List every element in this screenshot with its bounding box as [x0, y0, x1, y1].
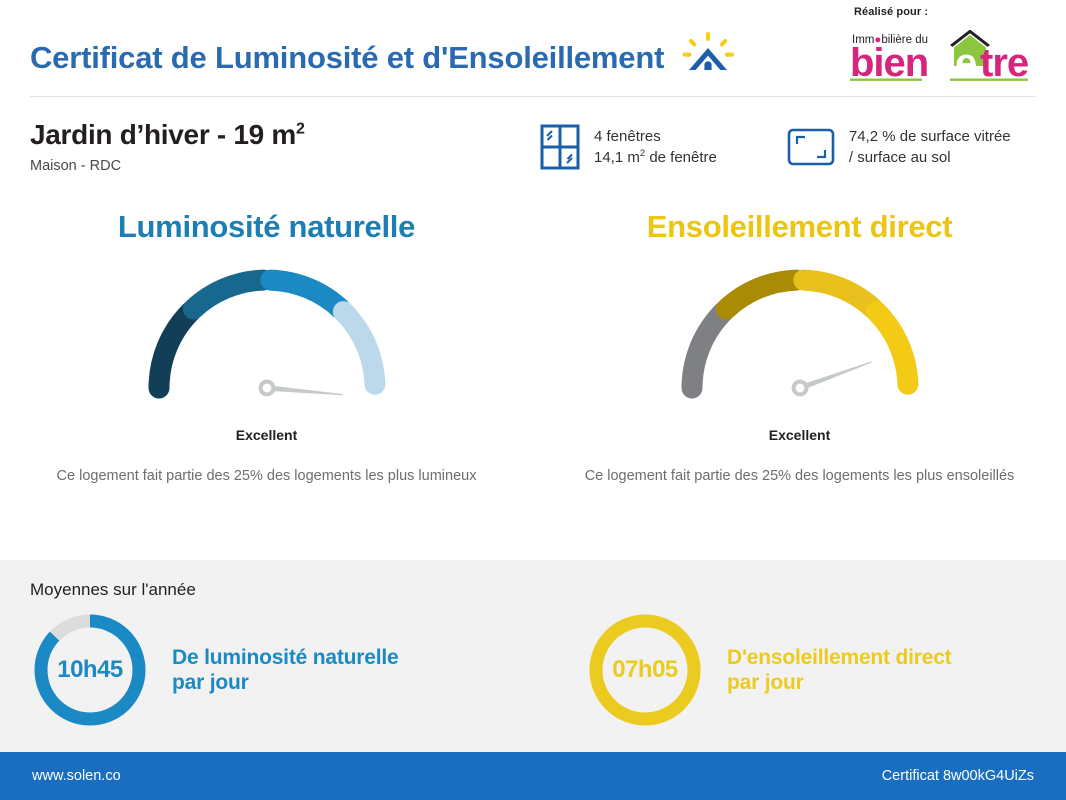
page-title: Certificat de Luminosité et d'Ensoleille… — [30, 42, 664, 73]
stat-windows-line2: 14,1 m2 de fenêtre — [594, 147, 717, 168]
averages-heading: Moyennes sur l'année — [30, 580, 1036, 600]
brand-logo-bien: bien — [850, 41, 928, 82]
stat-windows-text: 4 fenêtres 14,1 m2 de fenêtre — [594, 126, 717, 169]
average-ensoleillement-value: 07h05 — [585, 610, 705, 730]
average-ensoleillement: 07h05 D'ensoleillement direct par jour — [533, 610, 1036, 730]
stat-windows-area-post: de fenêtre — [645, 149, 717, 166]
average-luminosite-label: De luminosité naturelle par jour — [172, 645, 398, 695]
average-ensoleillement-label-line2: par jour — [727, 670, 951, 695]
brand-label: Réalisé pour : — [854, 6, 1036, 18]
averages-row: 10h45 De luminosité naturelle par jour 0… — [30, 610, 1036, 730]
header-title-group: Certificat de Luminosité et d'Ensoleille… — [30, 30, 734, 84]
footer-certificate-id: Certificat 8w00kG4UiZs — [882, 768, 1034, 784]
stat-windows-line1: 4 fenêtres — [594, 126, 717, 147]
gauge-luminosite-segment-4 — [343, 312, 375, 385]
footer-website-link[interactable]: www.solen.co — [32, 768, 121, 784]
gauge-ensoleillement-needle — [789, 354, 874, 399]
brand-logo-e: e — [955, 41, 976, 82]
stat-windows-area: 14,1 m — [594, 149, 640, 166]
average-luminosite-label-line1: De luminosité naturelle — [172, 645, 398, 670]
average-luminosite-value: 10h45 — [30, 610, 150, 730]
page-footer: www.solen.co Certificat 8w00kG4UiZs — [0, 752, 1066, 800]
room-title: Jardin d’hiver - 19 m2 — [30, 120, 540, 151]
gauge-luminosite-segment-2 — [193, 280, 263, 309]
gauge-luminosite-segment-3 — [270, 280, 340, 309]
gauges-section: Luminosité naturelle Excellent Ce logeme… — [0, 197, 1066, 487]
page-header: Certificat de Luminosité et d'Ensoleille… — [0, 0, 1066, 96]
average-ensoleillement-label-line1: D'ensoleillement direct — [727, 645, 951, 670]
average-luminosite-label-line2: par jour — [172, 670, 398, 695]
gauge-luminosite-title: Luminosité naturelle — [118, 211, 415, 242]
gauge-luminosite-description: Ce logement fait partie des 25% des loge… — [57, 465, 477, 487]
gauge-luminosite: Luminosité naturelle Excellent Ce logeme… — [0, 211, 533, 487]
stat-glazed-line1: 74,2 % de surface vitrée — [849, 126, 1011, 147]
certificate-page: Certificat de Luminosité et d'Ensoleille… — [0, 0, 1066, 800]
gauge-luminosite-segment-1 — [159, 312, 191, 388]
room-block: Jardin d’hiver - 19 m2 Maison - RDC — [30, 120, 540, 174]
room-title-unit-sup: 2 — [296, 121, 305, 138]
stat-glazed-surface: 74,2 % de surface vitrée / surface au so… — [787, 126, 1011, 169]
average-ensoleillement-donut: 07h05 — [585, 610, 705, 730]
stat-glazed-text: 74,2 % de surface vitrée / surface au so… — [849, 126, 1011, 169]
gauge-ensoleillement: Ensoleillement direct Excellent Ce logem… — [533, 211, 1066, 487]
gauge-ensoleillement-segment-4 — [876, 312, 908, 385]
stat-glazed-line2: / surface au sol — [849, 147, 1011, 168]
gauge-luminosite-needle — [257, 379, 343, 403]
gauge-ensoleillement-rating: Excellent — [769, 427, 830, 443]
average-luminosite: 10h45 De luminosité naturelle par jour — [30, 610, 533, 730]
average-ensoleillement-label: D'ensoleillement direct par jour — [727, 645, 951, 695]
immobiliere-du-bien-etre-logo: Imm●bilière du bien e tre — [850, 30, 1028, 82]
gauge-ensoleillement-segment-2 — [726, 280, 796, 309]
gauge-luminosite-rating: Excellent — [236, 427, 297, 443]
brand-block: Réalisé pour : Imm●bilière du bien e tre — [850, 6, 1036, 82]
averages-section: Moyennes sur l'année 10h45 De luminosité… — [0, 560, 1066, 752]
room-info-row: Jardin d’hiver - 19 m2 Maison - RDC 4 fe… — [0, 97, 1066, 197]
gauge-ensoleillement-dial — [650, 248, 950, 423]
solen-sun-house-icon — [682, 32, 734, 84]
gauge-luminosite-dial — [117, 248, 417, 423]
floor-area-icon — [787, 127, 835, 167]
room-title-text: Jardin d’hiver - 19 m — [30, 119, 296, 150]
gauge-ensoleillement-segment-1 — [692, 312, 724, 388]
room-location: Maison - RDC — [30, 158, 540, 174]
window-grid-icon — [540, 123, 580, 171]
average-luminosite-donut: 10h45 — [30, 610, 150, 730]
gauge-ensoleillement-description: Ce logement fait partie des 25% des loge… — [585, 465, 1015, 487]
gauge-ensoleillement-segment-3 — [803, 280, 873, 309]
stat-windows: 4 fenêtres 14,1 m2 de fenêtre — [540, 123, 717, 171]
gauge-ensoleillement-title: Ensoleillement direct — [647, 211, 953, 242]
brand-logo-tre: tre — [980, 41, 1028, 82]
